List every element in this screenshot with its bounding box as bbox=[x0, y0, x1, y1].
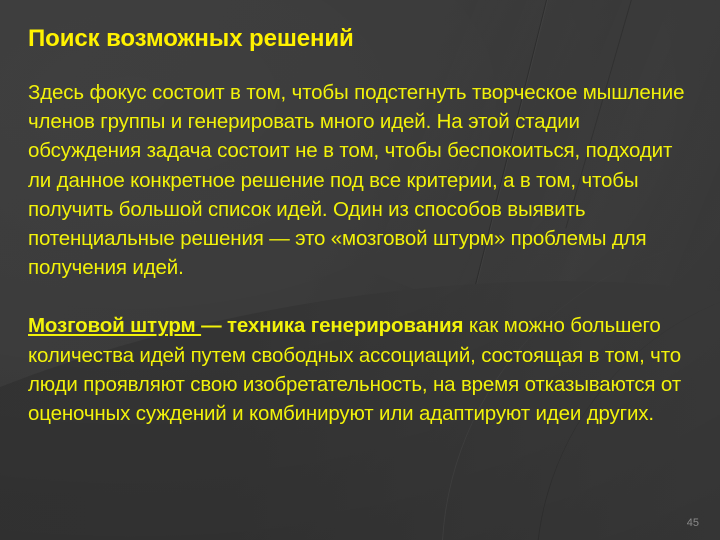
presentation-slide: Поиск возможных решений Здесь фокус сост… bbox=[0, 0, 720, 540]
body-paragraph-1: Здесь фокус состоит в том, чтобы подстег… bbox=[28, 78, 692, 282]
term-definition-bold: — техника генерирования bbox=[201, 314, 463, 337]
paragraph-spacer bbox=[28, 282, 692, 311]
term-brainstorming-underlined: Мозговой штурм bbox=[28, 314, 201, 337]
slide-content: Поиск возможных решений Здесь фокус сост… bbox=[28, 24, 692, 428]
slide-title: Поиск возможных решений bbox=[28, 24, 692, 54]
page-number: 45 bbox=[687, 517, 699, 529]
body-paragraph-2: Мозговой штурм — техника генерирования к… bbox=[28, 311, 692, 428]
